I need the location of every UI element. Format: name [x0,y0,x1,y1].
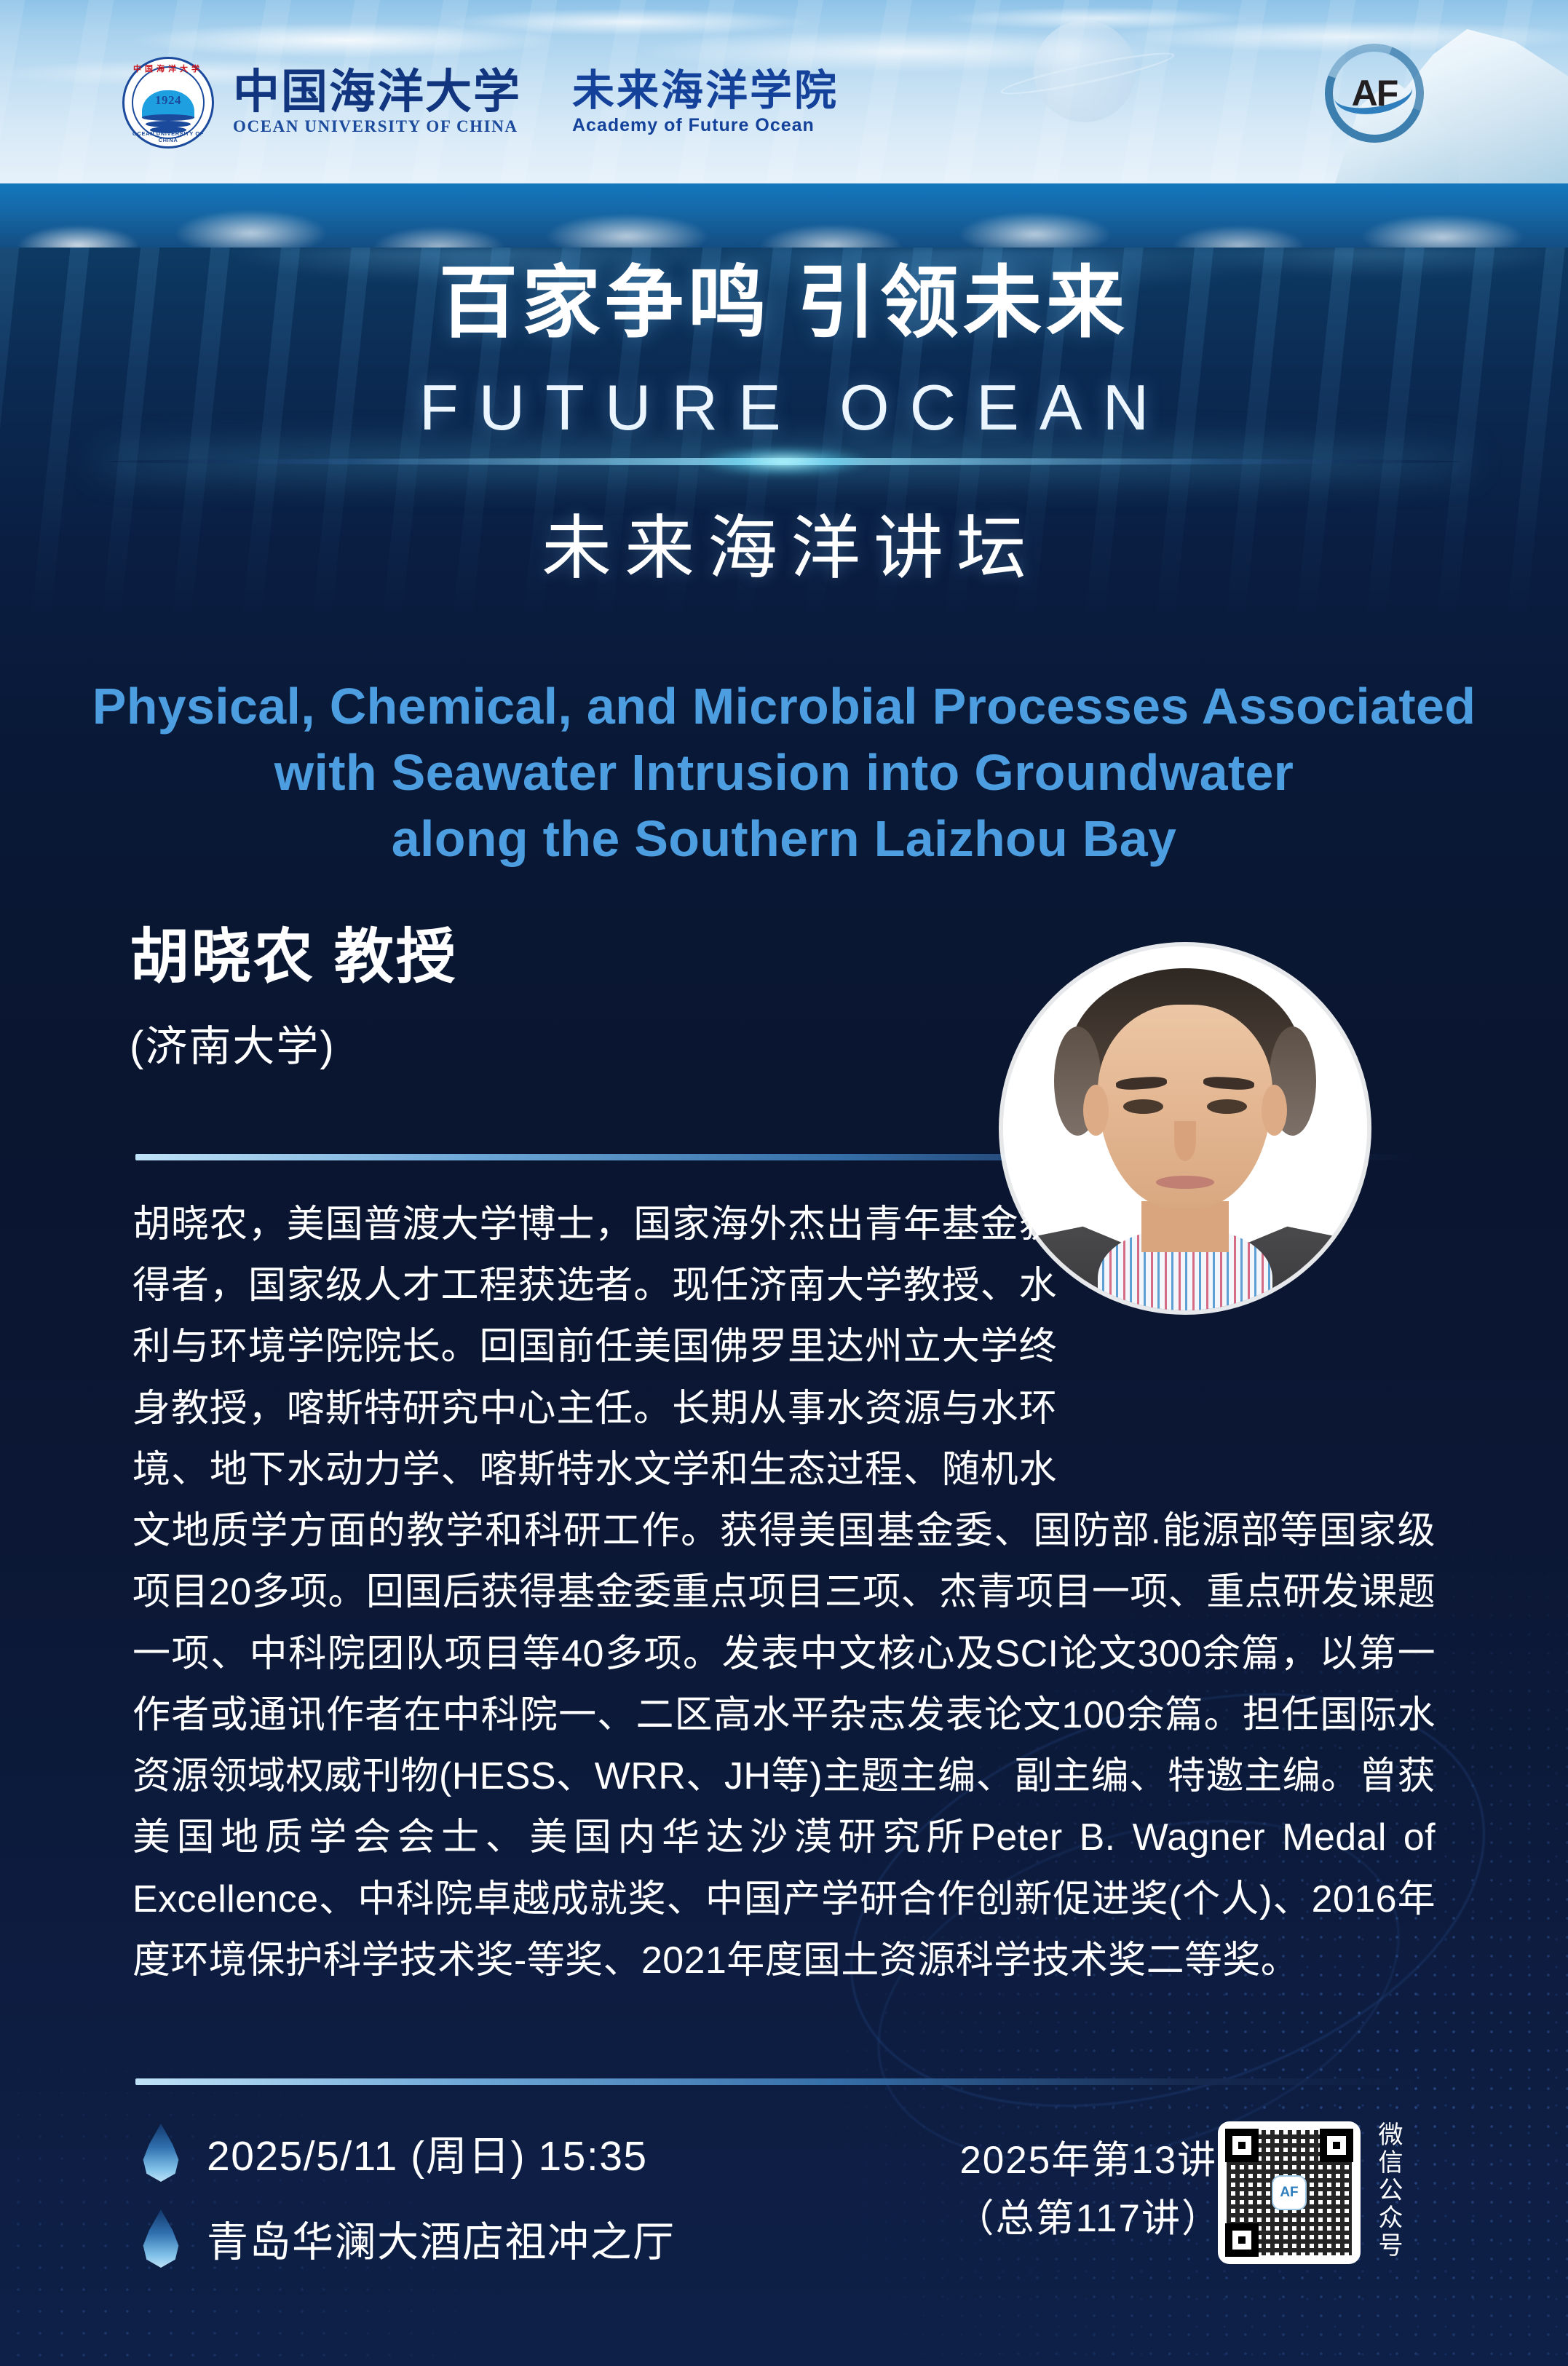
speaker-affiliation: (济南大学) [130,1012,458,1073]
university-name-cn: 中国海洋大学 [233,69,521,116]
event-venue-row: 青岛华澜大酒店祖冲之厅 [140,2209,676,2268]
ouc-wordmark: 中国海洋大学 OCEAN UNIVERSITY OF CHINA [233,69,521,136]
seal-arc-bottom-text: OCEAN UNIVERSITY OF CHINA [122,130,214,143]
talk-title-line-2: with Seawater Intrusion into Groundwater [29,740,1539,806]
water-drop-icon [140,2124,182,2182]
qr-label: 微信公众号 [1371,2121,1406,2264]
seal-year: 1924 [133,93,203,108]
academy-wordmark: 未来海洋学院 Academy of Future Ocean [572,70,839,136]
session-total-number: （总第117讲） [956,2190,1222,2248]
speaker-block: 胡晓农 教授 (济南大学) [130,925,458,1073]
water-drop-icon [140,2209,182,2268]
series-title-cn: 未来海洋讲坛 [0,491,1568,593]
qr-center-logo: AF [1272,2175,1307,2210]
header-logo-bar: 1924 中国海洋大学 OCEAN UNIVERSITY OF CHINA 中国… [0,0,1568,183]
university-name-en: OCEAN UNIVERSITY OF CHINA [233,117,521,136]
speaker-name: 胡晓农 教授 [130,925,458,990]
talk-title-line-1: Physical, Chemical, and Microbial Proces… [29,673,1539,740]
session-number-block: 2025年第13讲 （总第117讲） [956,2132,1222,2247]
academy-name-cn: 未来海洋学院 [572,70,839,112]
qr-code-group[interactable]: AF 微信公众号 [1218,2121,1406,2264]
event-datetime-row: 2025/5/11 (周日) 15:35 [140,2123,676,2183]
slogan-text: 百家争鸣 引领未来 [0,256,1568,349]
event-venue: 青岛华澜大酒店祖冲之厅 [207,2209,676,2268]
page-title: Physical, Chemical, and Microbial Proces… [29,673,1539,872]
ouc-logo-lockup: 1924 中国海洋大学 OCEAN UNIVERSITY OF CHINA 中国… [122,57,839,149]
glow-divider [107,458,1461,465]
speaker-portrait-avatar [1003,946,1367,1310]
footer-block: 2025/5/11 (周日) 15:35 青岛华澜大酒店祖冲之厅 2025年第1… [0,2097,1568,2330]
headline-block: 百家争鸣 引领未来 FUTURE OCEAN 未来海洋讲坛 [0,256,1568,593]
ouc-seal-icon: 1924 中国海洋大学 OCEAN UNIVERSITY OF CHINA [122,57,214,149]
seal-arc-top-text: 中国海洋大学 [122,63,214,74]
event-meta: 2025/5/11 (周日) 15:35 青岛华澜大酒店祖冲之厅 [140,2123,676,2295]
divider-above-footer [135,2078,1417,2085]
poster-root: 1924 中国海洋大学 OCEAN UNIVERSITY OF CHINA 中国… [0,0,1568,2366]
talk-title-line-3: along the Southern Laizhou Bay [29,806,1539,872]
series-title-en: FUTURE OCEAN [0,371,1568,445]
academy-name-en: Academy of Future Ocean [572,115,839,136]
wechat-qr-code[interactable]: AF [1218,2121,1361,2264]
session-year-number: 2025年第13讲 [956,2132,1222,2190]
speaker-bio: 胡晓农，美国普渡大学博士，国家海外杰出青年基金获得者，国家级人才工程获选者。现任… [132,1194,1436,1991]
af-brush-circle-icon: AF [1325,44,1424,143]
event-datetime: 2025/5/11 (周日) 15:35 [207,2123,648,2183]
af-badge-text: AF [1325,44,1424,143]
